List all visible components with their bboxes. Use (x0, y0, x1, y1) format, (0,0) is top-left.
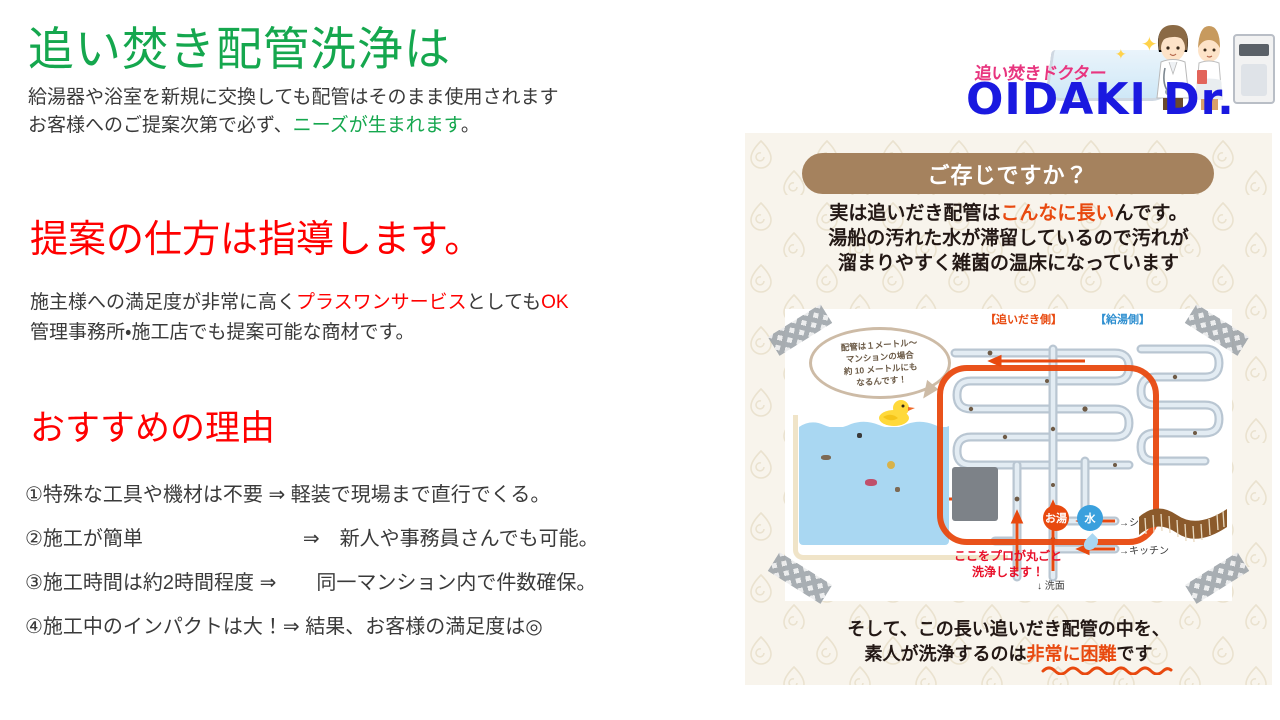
lead-line-2-plain: お客様へのご提案次第で必ず、 (28, 115, 293, 136)
clean-callout-text: ここをプロが丸ごと 洗浄します！ (933, 549, 1083, 580)
proposal-accent-plusone: プラスワンサービス (296, 292, 467, 313)
debris-speck (821, 455, 831, 460)
lead-line-2: お客様へのご提案次第で必ず、ニーズが生まれます。 (28, 112, 558, 140)
panel-lead-a: 実は追いだき配管は (829, 203, 1000, 224)
reasons-list: ①特殊な工具や機材は不要 ⇒ 軽装で現場まで直行でくる。 ②施工が簡単 ⇒ 新人… (25, 473, 745, 649)
heading-proposal: 提案の仕方は指導します。 (30, 219, 482, 262)
underline-squiggle-icon (1041, 665, 1173, 675)
panel-bottom-line-2: 素人が洗浄するのは非常に困難です (745, 642, 1272, 667)
proposal-paragraph: 施主様への満足度が非常に高くプラスワンサービスとしてもOK 管理事務所・施工店で… (30, 288, 569, 347)
lead-line-1: 給湯器や浴室を新規に交換しても配管はそのまま使用されます (28, 84, 558, 112)
lead-paragraph: 給湯器や浴室を新規に交換しても配管はそのまま使用されます お客様へのご提案次第で… (28, 84, 558, 140)
sparkle-small-icon: ✦ (1115, 46, 1127, 63)
panel-lead-text: 実は追いだき配管はこんなに長いんです。 湯船の汚れた水が滞留しているので汚れが … (745, 201, 1272, 276)
page-title: 追い焚き配管洗浄は (28, 24, 451, 76)
heading-recommend-reasons: おすすめの理由 (30, 409, 275, 448)
panel-lead-line-2: 湯船の汚れた水が滞留しているので汚れが (745, 226, 1272, 251)
debris-speck (865, 479, 877, 486)
panel-header-pill: ご存じですか？ (802, 153, 1214, 194)
reason-item-3: ③施工時間は約2時間程度 ⇒ 同一マンション内で件数確保。 (25, 561, 745, 605)
proposal-line-1: 施主様への満足度が非常に高くプラスワンサービスとしてもOK (30, 288, 569, 318)
pipe-diagram-card: 【追いだき側】 【給湯側】 配管は１メートル～ マンションの場合 約 10 メー… (785, 309, 1232, 601)
panel-lead-line-1: 実は追いだき配管はこんなに長いんです。 (745, 201, 1272, 226)
debris-speck (895, 487, 900, 492)
panel-lead-b: んです。 (1114, 203, 1187, 224)
debris-speck (857, 433, 862, 438)
lead-accent-needs: ニーズが生まれます (293, 115, 461, 136)
hot-water-badge: お湯 (1043, 505, 1069, 531)
logo-wordmark: OIDAKI Dr. (966, 74, 1235, 125)
panel-bottom-a: 素人が洗浄するのは (865, 644, 1027, 664)
proposal-text-a: 施主様への満足度が非常に高く (30, 292, 296, 313)
panel-bottom-text: そして、この長い追いだき配管の中を、 素人が洗浄するのは非常に困難です (745, 617, 1272, 667)
cold-water-badge: 水 (1077, 505, 1103, 531)
rubber-duck-icon (877, 397, 915, 427)
proposal-line-2: 管理事務所・施工店でも提案可能な商材です。 (30, 318, 569, 348)
bath-water (799, 427, 949, 545)
panel-header-label: ご存じですか？ (927, 158, 1088, 190)
reason-item-1: ①特殊な工具や機材は不要 ⇒ 軽装で現場まで直行でくる。 (25, 473, 745, 517)
wood-wave-decoration-icon (1137, 501, 1229, 551)
washing-machine-icon (1233, 34, 1275, 104)
panel-lead-highlight: こんなに長い (1000, 203, 1114, 224)
brand-logo: ✦ ✦ 追い焚きドクター OIDAKI Dr. (963, 12, 1273, 122)
panel-bottom-highlight: 非常に困難 (1027, 644, 1117, 664)
panel-bottom-line-1: そして、この長い追いだき配管の中を、 (745, 617, 1272, 642)
debris-speck (887, 461, 895, 469)
reason-item-4: ④施工中のインパクトは大！⇒ 結果、お客様の満足度は◎ (25, 605, 745, 649)
proposal-accent-ok: OK (541, 292, 568, 313)
reason-item-2: ②施工が簡単 ⇒ 新人や事務員さんでも可能。 (25, 517, 745, 561)
panel-bottom-b: です (1117, 644, 1153, 664)
proposal-text-b: としても (467, 292, 541, 313)
left-content-column: 追い焚き配管洗浄は 給湯器や浴室を新規に交換しても配管はそのまま使用されます お… (0, 0, 745, 720)
lead-line-2-tail: 。 (461, 115, 480, 136)
infographic-panel: ご存じですか？ 実は追いだき配管はこんなに長いんです。 湯船の汚れた水が滞留して… (745, 133, 1272, 685)
panel-lead-line-3: 溜まりやすく雑菌の温床になっています (745, 251, 1272, 276)
